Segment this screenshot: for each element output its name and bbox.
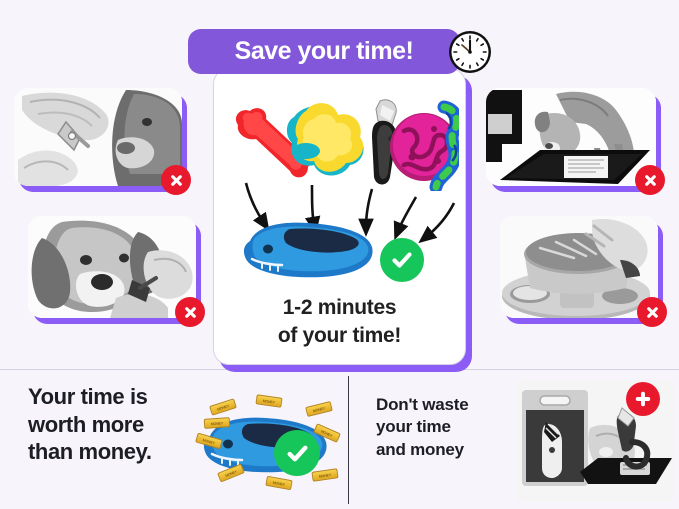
infographic-root: 1-2 minutes of your time! Save your time…: [0, 0, 679, 509]
clock-icon-svg: [447, 29, 493, 75]
bottom-right-product-group: [516, 380, 674, 502]
photo-beagle-paw: [28, 216, 196, 318]
toys-illustration: [222, 91, 459, 191]
horizontal-divider: [0, 369, 679, 370]
bl-line-1: Your time is: [28, 383, 208, 411]
check-badge: [274, 430, 320, 476]
photo-card-beagle-paw: [28, 216, 196, 318]
photo-nail-clipping: [14, 88, 182, 186]
check-icon: [285, 441, 310, 466]
br-line-2: your time: [376, 416, 526, 438]
x-icon: [169, 173, 184, 188]
photo-card-nail-clipping: [14, 88, 182, 186]
clock-icon: [447, 29, 493, 75]
save-your-time-banner: Save your time!: [188, 29, 460, 74]
x-badge: [635, 165, 665, 195]
plus-icon: [634, 390, 652, 408]
center-card-caption: 1-2 minutes of your time!: [214, 294, 465, 349]
bl-line-2: worth more: [28, 411, 208, 439]
caption-line-2: of your time!: [214, 322, 465, 350]
bottom-left-product-group: MONEY MONEY MONEY MONEY MONEY MONEY MONE…: [196, 382, 346, 502]
x-badge: [175, 297, 205, 327]
photo-frame: [486, 88, 656, 186]
photo-frame: [28, 216, 196, 318]
photo-lick-mat: [486, 88, 656, 186]
x-icon: [645, 305, 660, 320]
check-badge: [380, 238, 424, 282]
blue-grooming-pad: [238, 219, 378, 281]
plus-badge: [626, 382, 660, 416]
br-line-1: Don't waste: [376, 394, 526, 416]
x-badge: [161, 165, 191, 195]
bottom-right-headline: Don't waste your time and money: [376, 394, 526, 461]
photo-puzzle-feeder: [500, 216, 658, 318]
banner-title: Save your time!: [235, 37, 414, 66]
check-icon: [390, 248, 414, 272]
br-line-3: and money: [376, 439, 526, 461]
bottom-left-headline: Your time is worth more than money.: [28, 383, 208, 466]
photo-card-puzzle-feeder: [500, 216, 658, 318]
blue-grooming-pad-illustration: [238, 219, 378, 281]
center-card: 1-2 minutes of your time!: [213, 68, 466, 365]
money-bar: MONEY: [204, 417, 231, 429]
toys-row: [222, 91, 459, 191]
x-badge: [637, 297, 667, 327]
bl-line-3: than money.: [28, 438, 208, 466]
vertical-divider: [348, 376, 349, 504]
photo-card-lick-mat: [486, 88, 656, 186]
caption-line-1: 1-2 minutes: [214, 294, 465, 322]
x-icon: [183, 305, 198, 320]
photo-frame: [14, 88, 182, 186]
photo-frame: [500, 216, 658, 318]
x-icon: [643, 173, 658, 188]
